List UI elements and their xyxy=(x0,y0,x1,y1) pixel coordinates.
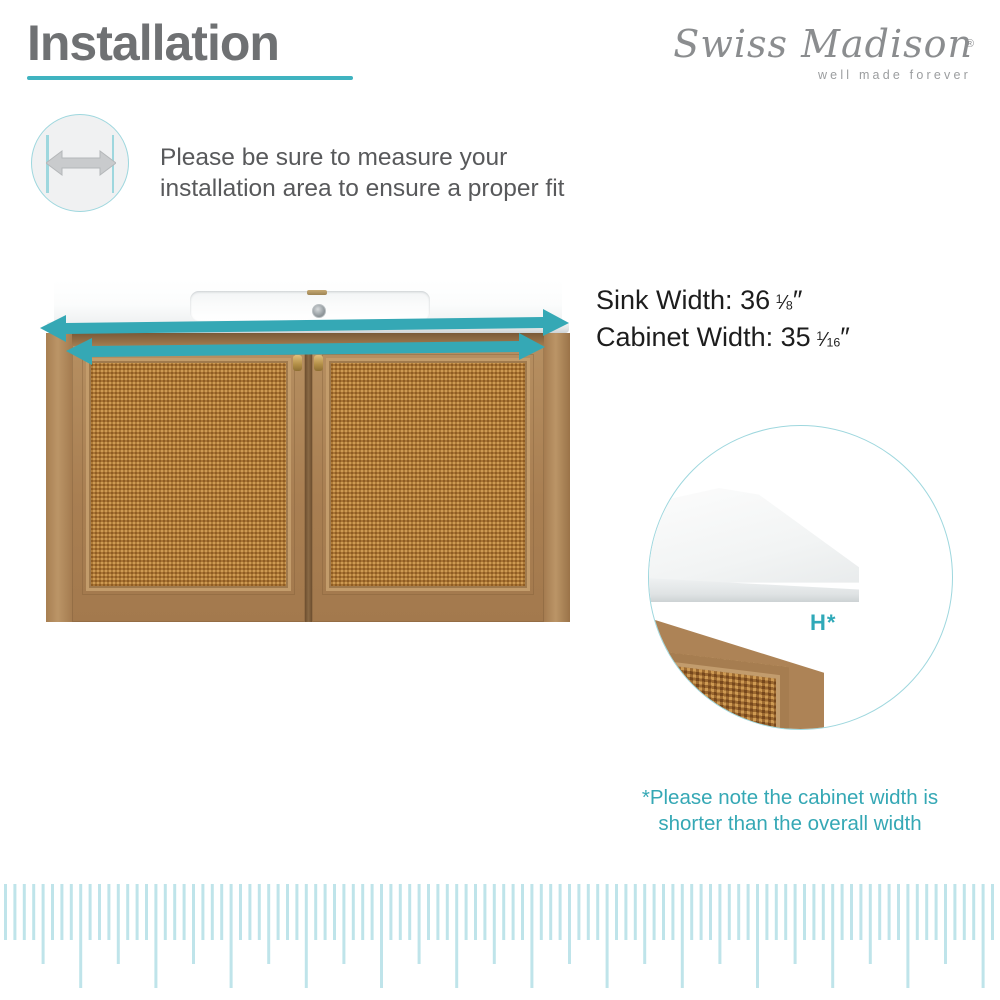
ruler-tick xyxy=(483,884,486,940)
dimension-labels: Sink Width: 36 1⁄8″ Cabinet Width: 35 1⁄… xyxy=(596,282,850,357)
ruler-tick xyxy=(662,884,665,940)
ruler-tick xyxy=(230,884,233,988)
ruler-tick xyxy=(239,884,242,940)
ruler-tick xyxy=(248,884,251,940)
ruler-tick xyxy=(4,884,7,940)
ruler-tick xyxy=(606,884,609,988)
cabinet-width-label: Cabinet Width: 35 1⁄16″ xyxy=(596,319,850,356)
ruler-tick xyxy=(822,884,825,940)
ruler-tick xyxy=(888,884,891,940)
ruler-tick xyxy=(201,884,204,940)
ruler-tick xyxy=(305,884,308,988)
cabinet-width-arrow xyxy=(66,333,545,365)
ruler-tick xyxy=(211,884,214,940)
ruler-tick xyxy=(982,884,985,988)
ruler-tick xyxy=(690,884,693,940)
ruler-tick xyxy=(70,884,73,940)
ruler-tick xyxy=(568,884,571,964)
ruler-tick xyxy=(455,884,458,988)
ruler-tick xyxy=(972,884,975,940)
cabinet-overhang-detail xyxy=(648,425,953,730)
ruler-tick xyxy=(79,884,82,988)
ruler-tick xyxy=(465,884,468,940)
ruler-tick xyxy=(126,884,129,940)
ruler-tick xyxy=(267,884,270,964)
sink-width-whole: 36 xyxy=(740,285,770,315)
ruler-tick xyxy=(333,884,336,940)
ruler-tick xyxy=(671,884,674,940)
ruler-tick xyxy=(953,884,956,940)
ruler-tick xyxy=(643,884,646,964)
ruler-tick xyxy=(935,884,938,940)
ruler-tick xyxy=(747,884,750,940)
ruler-tick xyxy=(709,884,712,940)
footnote-line-1: *Please note the cabinet width is xyxy=(600,785,980,811)
cabinet-fraction-numerator: 1 xyxy=(816,329,823,343)
ruler-tick xyxy=(154,884,157,988)
ruler-tick xyxy=(13,884,16,940)
ruler-tick xyxy=(258,884,261,940)
ruler-tick xyxy=(512,884,515,940)
ruler-tick xyxy=(559,884,562,940)
ruler-tick xyxy=(944,884,947,964)
ruler-tick xyxy=(389,884,392,940)
page-title: Installation xyxy=(27,18,279,68)
ruler-tick xyxy=(117,884,120,964)
ruler-tick xyxy=(963,884,966,940)
double-arrow-glyph xyxy=(46,148,116,178)
ruler-tick xyxy=(681,884,684,988)
ruler-tick xyxy=(342,884,345,964)
ruler-tick xyxy=(42,884,45,964)
ruler-tick xyxy=(89,884,92,940)
ruler-tick xyxy=(502,884,505,940)
overhang-marker-letter: H xyxy=(810,610,827,635)
ruler-tick xyxy=(700,884,703,940)
installation-page: Installation Swiss Madison ® well made f… xyxy=(0,0,1000,1000)
ruler-tick xyxy=(314,884,317,940)
ruler-tick xyxy=(897,884,900,940)
cabinet-width-fraction: 1⁄16 xyxy=(811,329,841,351)
ruler-tick xyxy=(756,884,759,988)
overhang-marker-asterisk: * xyxy=(827,610,837,635)
ruler-tick xyxy=(446,884,449,940)
ruler-tick xyxy=(765,884,768,940)
ruler-tick xyxy=(906,884,909,988)
ruler-tick xyxy=(549,884,552,940)
brand-wordmark: Swiss Madison ® xyxy=(673,22,973,66)
ruler-tick xyxy=(530,884,533,988)
ruler-tick xyxy=(164,884,167,940)
ruler-tick xyxy=(831,884,834,988)
measurement-arrows xyxy=(32,277,577,627)
brand-logo: Swiss Madison ® well made forever xyxy=(675,22,975,84)
ruler-tick xyxy=(718,884,721,964)
footnote-line-2: shorter than the overall width xyxy=(600,811,980,837)
cabinet-width-whole: 35 xyxy=(781,322,811,352)
ruler-tick xyxy=(136,884,139,940)
ruler-tick xyxy=(812,884,815,940)
ruler-tick xyxy=(577,884,580,940)
ruler-tick xyxy=(324,884,327,940)
ruler-tick xyxy=(51,884,54,940)
measure-instruction-text: Please be sure to measure your installat… xyxy=(160,142,600,205)
cabinet-width-unit: ″ xyxy=(840,322,850,352)
registered-trademark-icon: ® xyxy=(966,38,975,50)
ruler-tick xyxy=(60,884,63,940)
ruler-tick xyxy=(107,884,110,940)
ruler-tick xyxy=(23,884,26,940)
ruler-tick xyxy=(653,884,656,940)
ruler-tick xyxy=(596,884,599,940)
ruler-tick xyxy=(436,884,439,940)
brand-name: Swiss Madison xyxy=(673,22,973,66)
ruler-tick xyxy=(192,884,195,964)
ruler-tick xyxy=(220,884,223,940)
ruler-tick xyxy=(803,884,806,940)
ruler-tick xyxy=(521,884,524,940)
ruler-tick xyxy=(841,884,844,940)
ruler-tick xyxy=(173,884,176,940)
ruler-tick xyxy=(418,884,421,964)
ruler-tick xyxy=(408,884,411,940)
sink-width-arrow xyxy=(40,309,569,342)
ruler-tick xyxy=(399,884,402,940)
ruler-tick xyxy=(145,884,148,940)
ruler-tick xyxy=(859,884,862,940)
ruler-tick xyxy=(587,884,590,940)
ruler-tick xyxy=(878,884,881,940)
ruler-tick xyxy=(277,884,280,940)
cabinet-fraction-denominator: 16 xyxy=(826,336,840,350)
ruler-tick xyxy=(775,884,778,940)
sink-fraction-numerator: 1 xyxy=(776,292,783,306)
ruler-tick xyxy=(371,884,374,940)
ruler-tick xyxy=(634,884,637,940)
vanity-illustration xyxy=(32,277,577,627)
ruler-tick xyxy=(540,884,543,940)
ruler-tick xyxy=(98,884,101,940)
sink-width-label: Sink Width: 36 1⁄8″ xyxy=(596,282,850,319)
sink-width-caption: Sink Width: xyxy=(596,285,733,315)
ruler-tick xyxy=(32,884,35,940)
ruler-tick xyxy=(615,884,618,940)
footnote: *Please note the cabinet width is shorte… xyxy=(600,785,980,837)
ruler-tick xyxy=(295,884,298,940)
ruler-tick xyxy=(474,884,477,940)
title-underline xyxy=(27,76,353,80)
ruler-tick xyxy=(850,884,853,940)
ruler-tick xyxy=(286,884,289,940)
ruler-tick xyxy=(493,884,496,964)
sink-width-fraction: 1⁄8 xyxy=(770,292,793,314)
ruler-graphic xyxy=(0,884,1000,1000)
ruler-tick xyxy=(869,884,872,964)
ruler-tick xyxy=(737,884,740,940)
sink-fraction-denominator: 8 xyxy=(786,299,793,313)
ruler-tick xyxy=(925,884,928,940)
double-arrow-measure-icon xyxy=(31,114,129,212)
ruler-tick xyxy=(183,884,186,940)
ruler-tick xyxy=(916,884,919,940)
cabinet-width-caption: Cabinet Width: xyxy=(596,322,773,352)
ruler-tick xyxy=(380,884,383,988)
ruler-tick xyxy=(624,884,627,940)
overhang-marker: H* xyxy=(810,612,836,634)
ruler-tick xyxy=(427,884,430,940)
ruler-tick xyxy=(784,884,787,940)
ruler-tick xyxy=(794,884,797,964)
ruler-tick xyxy=(352,884,355,940)
ruler-tick xyxy=(991,884,994,940)
brand-tagline: well made forever xyxy=(818,68,971,82)
ruler-tick xyxy=(728,884,731,940)
ruler-tick xyxy=(361,884,364,940)
sink-width-unit: ″ xyxy=(793,285,803,315)
